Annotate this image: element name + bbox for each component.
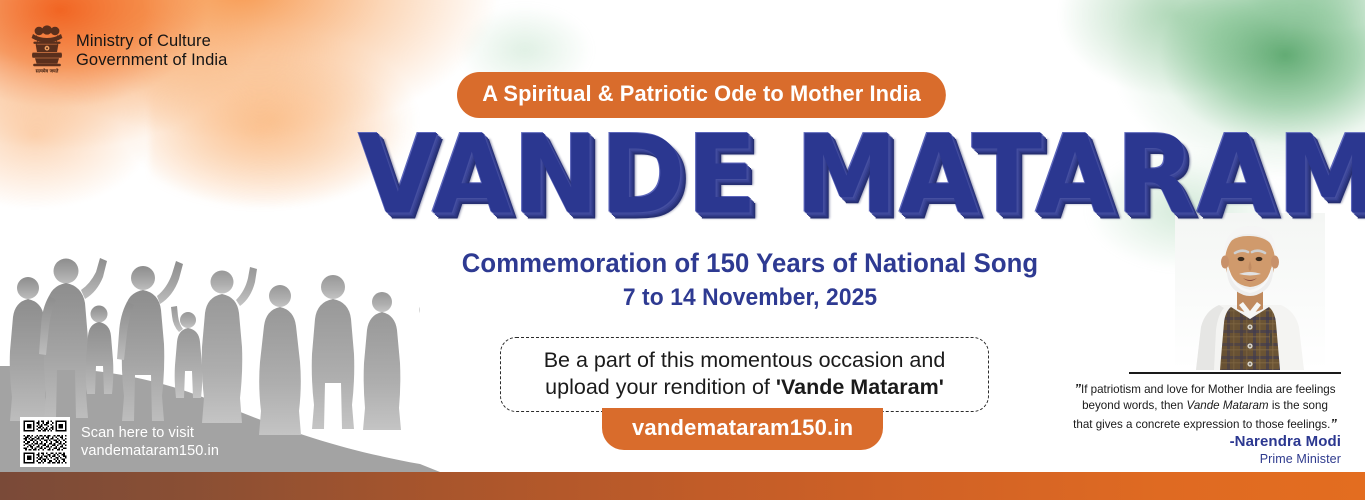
pm-quote: ”If patriotism and love for Mother India…: [1055, 380, 1355, 433]
pm-quote-line3: that gives a concrete expression to thos…: [1073, 418, 1330, 431]
cta-line-2: upload your rendition of 'Vande Mataram': [515, 374, 974, 401]
cta-line-2-prefix: upload your rendition of: [545, 375, 776, 399]
qr-instruction-line2: vandemataram150.in: [81, 442, 219, 460]
event-dates: 7 to 14 November, 2025: [418, 284, 1083, 312]
pm-quote-line2-b: is the song: [1269, 399, 1328, 412]
subtitle: Commemoration of 150 Years of National S…: [411, 248, 1090, 279]
page-title: VANDE MATARAM: [358, 124, 1142, 227]
cta-line-1: Be a part of this momentous occasion and: [515, 347, 974, 374]
bottom-color-strip: [0, 472, 1365, 500]
quote-author-role: Prime Minister: [1061, 452, 1341, 466]
quote-author: -Narendra Modi: [1061, 433, 1341, 450]
quote-close-mark: ”: [1330, 416, 1337, 431]
vande-mataram-banner: सत्यमेव जयते Ministry of Culture Governm…: [0, 0, 1365, 500]
main-title-wrap: VANDE MATARAM: [400, 124, 1100, 211]
ministry-name: Ministry of Culture: [76, 32, 227, 51]
government-name: Government of India: [76, 51, 227, 70]
qr-code-icon[interactable]: [20, 417, 70, 467]
svg-text:सत्यमेव जयते: सत्यमेव जयते: [35, 68, 59, 75]
qr-scan-block[interactable]: Scan here to visit vandemataram150.in: [20, 417, 219, 467]
pm-quote-line1: If patriotism and love for Mother India …: [1081, 383, 1336, 396]
pm-quote-song-title: Vande Mataram: [1187, 399, 1269, 412]
ashoka-lion-capital-emblem-icon: सत्यमेव जयते: [27, 22, 67, 80]
quote-divider-rule: [1129, 372, 1341, 374]
qr-instruction-line1: Scan here to visit: [81, 424, 219, 442]
cta-line-2-emphasis: 'Vande Mataram': [776, 375, 944, 399]
call-to-action-box: Be a part of this momentous occasion and…: [500, 337, 989, 412]
tagline-badge: A Spiritual & Patriotic Ode to Mother In…: [457, 72, 946, 118]
pm-quote-line2-a: beyond words, then: [1082, 399, 1186, 412]
ministry-branding: सत्यमेव जयते Ministry of Culture Governm…: [27, 22, 227, 80]
website-url-button[interactable]: vandemataram150.in: [602, 408, 883, 450]
